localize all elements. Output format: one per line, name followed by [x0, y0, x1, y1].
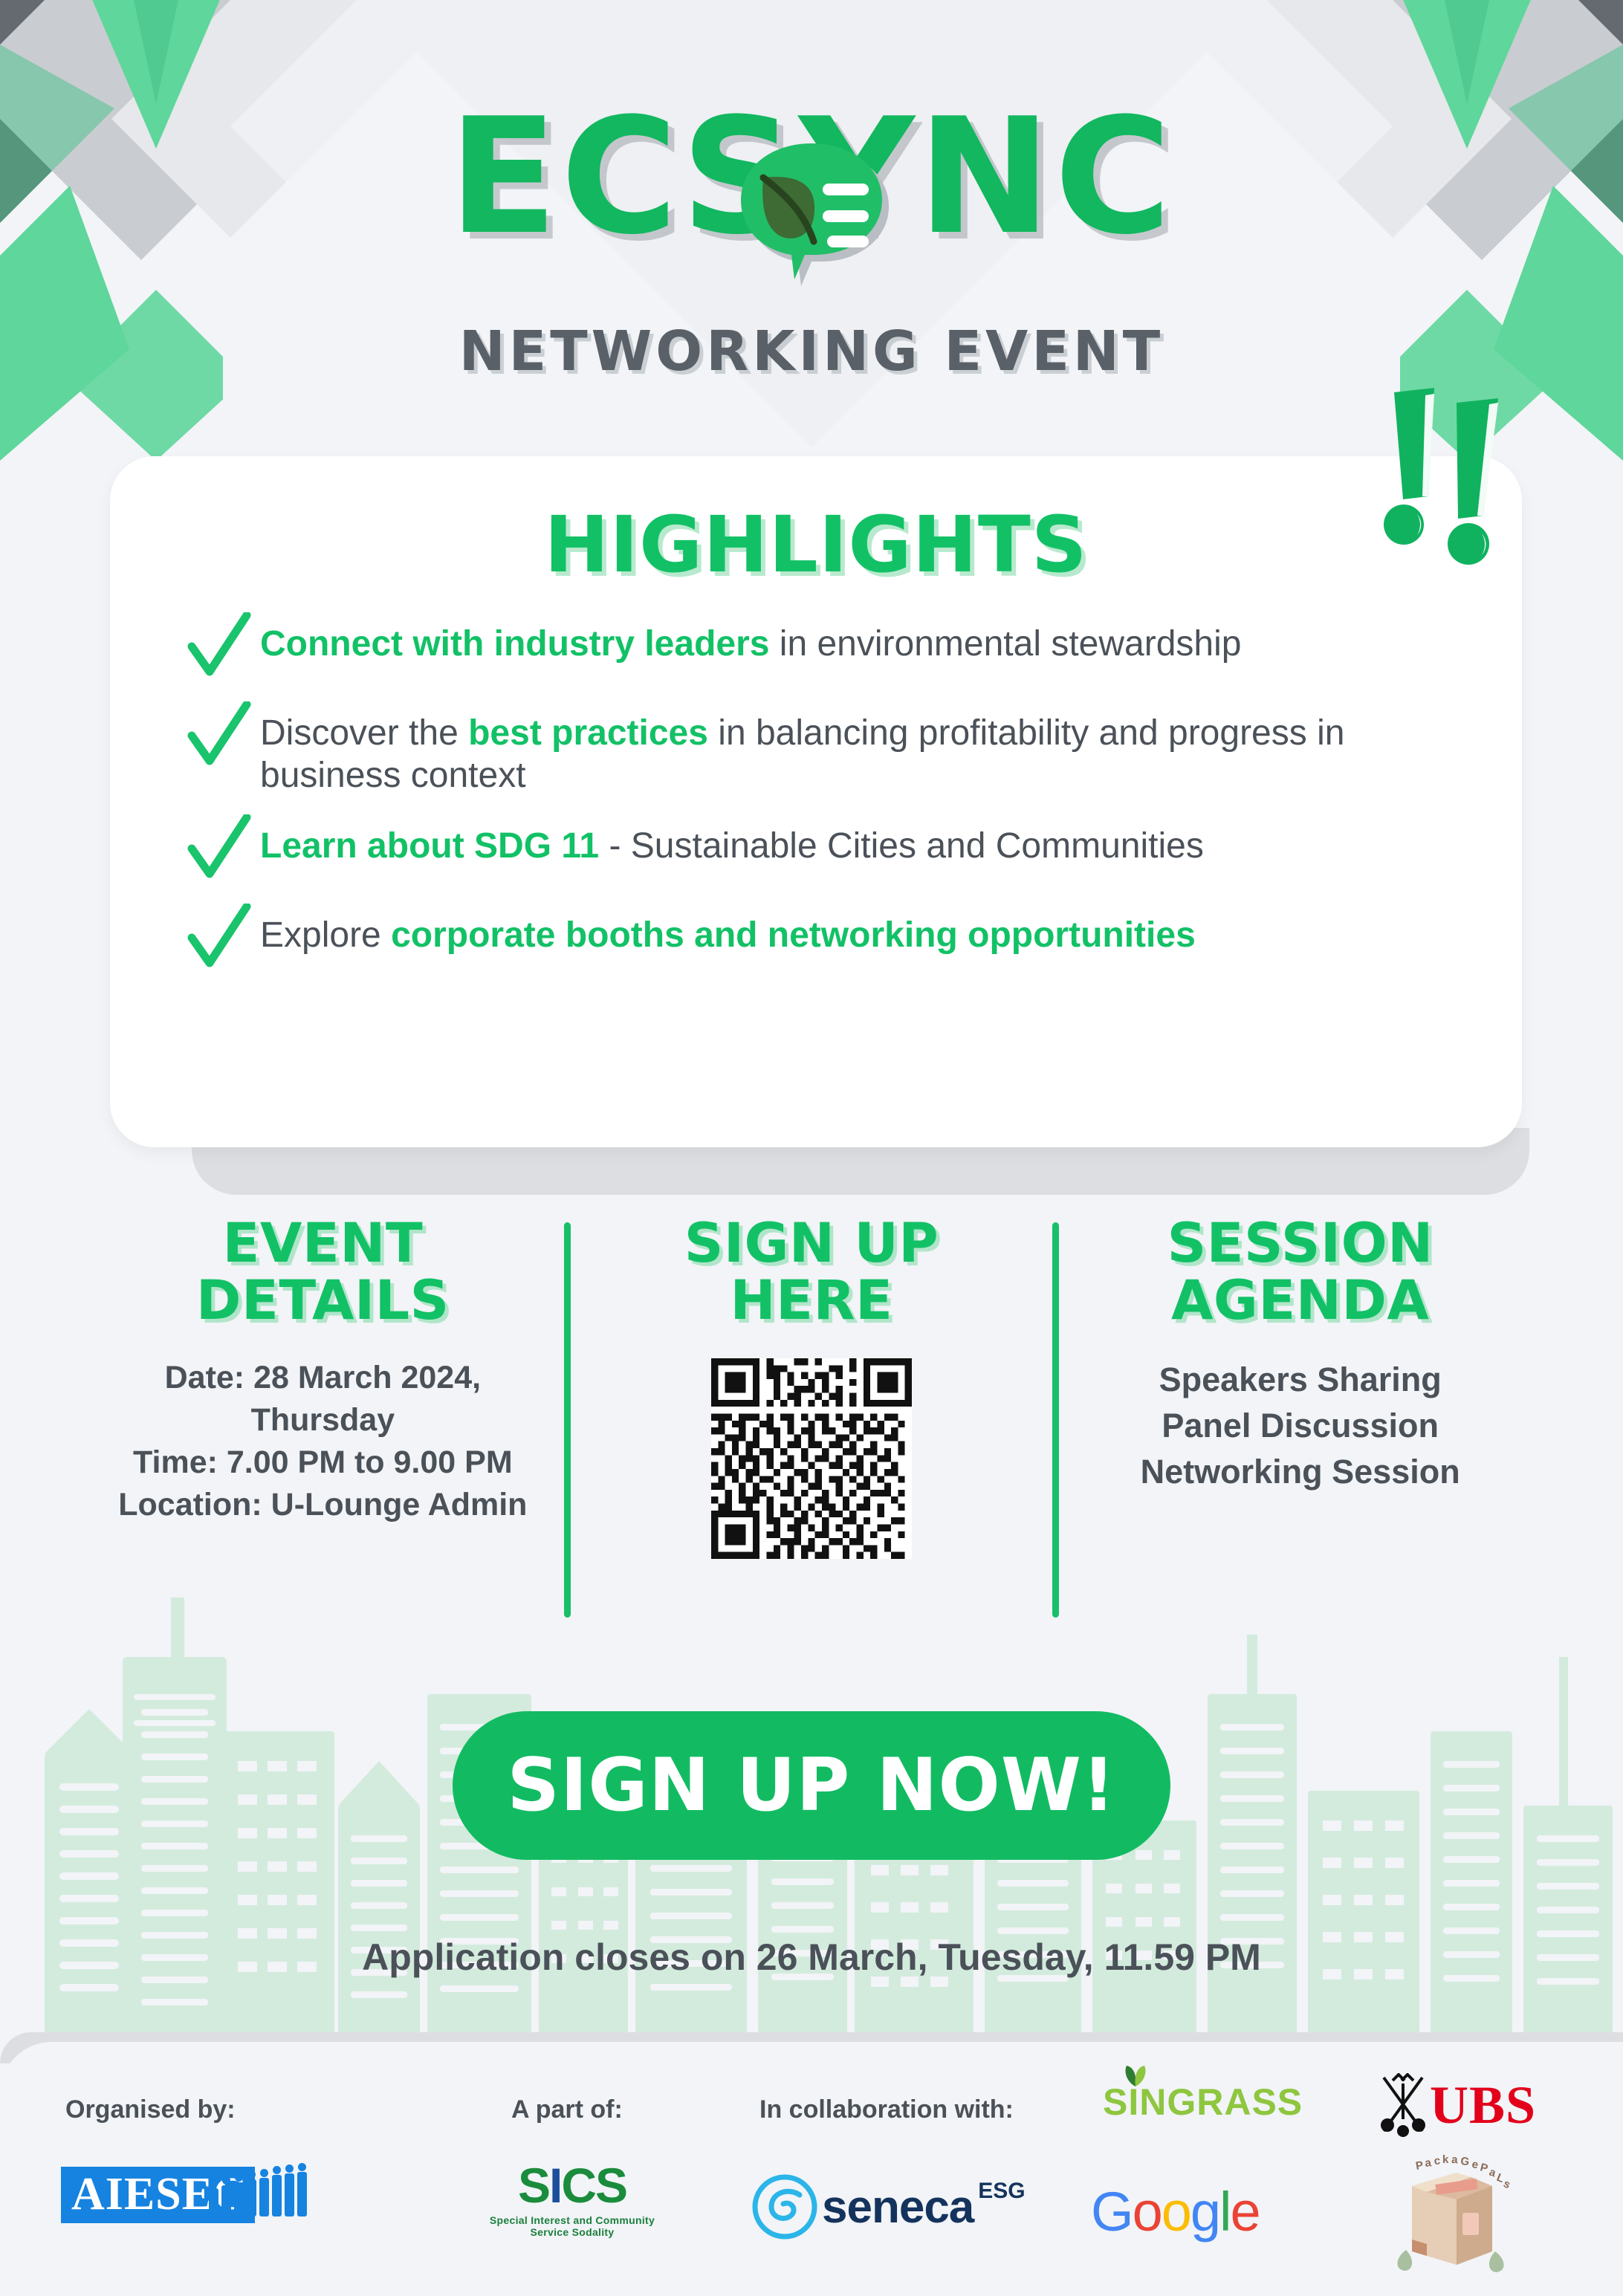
column-divider-1	[564, 1222, 571, 1618]
double-exclamation-icon	[1370, 379, 1534, 594]
google-logo: Google	[1091, 2180, 1260, 2243]
packagepals-logo: P a c k a G e P a L s	[1379, 2152, 1520, 2282]
event-time: Time: 7.00 PM to 9.00 PM	[82, 1442, 564, 1484]
session-agenda-body: Speakers Sharing Panel Discussion Networ…	[1059, 1357, 1541, 1495]
svg-text:P: P	[1479, 2161, 1489, 2175]
google-letter-g1: G	[1091, 2181, 1133, 2243]
highlights-title: HIGHLIGHTS	[110, 499, 1522, 590]
highlight-bold-2: best practices	[468, 713, 708, 753]
svg-text:e: e	[1471, 2158, 1479, 2171]
sign-up-here-title: SIGN UP HERE	[571, 1207, 1053, 1330]
seneca-esg-logo: seneca ESG	[751, 2173, 1026, 2241]
event-day: Thursday	[82, 1399, 564, 1442]
session-agenda-column: SESSION AGENDA Speakers Sharing Panel Di…	[1059, 1207, 1541, 1661]
aiesec-logo: AIESEC	[61, 2167, 310, 2223]
ubs-logo: UBS	[1376, 2073, 1536, 2137]
check-icon	[178, 612, 260, 684]
highlight-bold-1: Connect with industry leaders	[260, 624, 769, 664]
check-icon	[178, 814, 260, 886]
highlight-rest-3: - Sustainable Cities and Communities	[599, 826, 1204, 866]
session-agenda-title-line2: AGENDA	[1059, 1272, 1541, 1329]
organised-by-label: Organised by:	[65, 2095, 236, 2124]
sign-up-here-column: SIGN UP HERE	[571, 1207, 1053, 1661]
check-icon	[178, 904, 260, 975]
footer-panel: Organised by: A part of: In collaboratio…	[0, 2042, 1623, 2296]
event-details-column: EVENT DETAILS Date: 28 March 2024, Thurs…	[82, 1207, 564, 1661]
leaf-chat-bubble-icon	[732, 140, 891, 288]
google-letter-l: l	[1219, 2181, 1230, 2243]
svg-text:a: a	[1451, 2153, 1459, 2166]
a-part-of-label: A part of:	[511, 2095, 623, 2124]
sign-up-now-label: SIGN UP NOW!	[507, 1743, 1115, 1828]
session-agenda-title-line1: SESSION	[1059, 1215, 1541, 1272]
event-details-title-line1: EVENT	[82, 1215, 564, 1272]
sics-wordmark: SICS	[483, 2161, 661, 2210]
svg-text:a: a	[1425, 2156, 1433, 2170]
agenda-item-2: Panel Discussion	[1059, 1403, 1541, 1449]
highlight-rest-1: in environmental stewardship	[769, 624, 1241, 664]
highlight-bold-3: Learn about SDG 11	[260, 826, 599, 866]
svg-text:c: c	[1434, 2155, 1440, 2167]
highlight-bold-4: corporate booths and networking opportun…	[391, 915, 1196, 955]
sign-up-title-line2: HERE	[571, 1272, 1053, 1329]
application-deadline: Application closes on 26 March, Tuesday,…	[0, 1936, 1623, 1979]
info-columns: EVENT DETAILS Date: 28 March 2024, Thurs…	[82, 1207, 1541, 1661]
ubs-keys-icon	[1376, 2073, 1430, 2137]
column-divider-2	[1052, 1222, 1059, 1618]
sign-up-now-button[interactable]: SIGN UP NOW!	[453, 1711, 1170, 1860]
aiesec-people-icon	[209, 2173, 310, 2216]
sign-up-title-line1: SIGN UP	[571, 1215, 1053, 1272]
event-details-body: Date: 28 March 2024, Thursday Time: 7.00…	[82, 1357, 564, 1527]
sics-letter-s: S	[518, 2158, 549, 2213]
google-letter-e: e	[1230, 2181, 1259, 2243]
brand-name-left: EC	[449, 97, 681, 256]
agenda-item-3: Networking Session	[1059, 1449, 1541, 1495]
seneca-spiral-icon	[751, 2173, 819, 2241]
google-letter-o1: o	[1133, 2181, 1162, 2243]
highlight-text-4: Explore corporate booths and networking …	[260, 908, 1196, 956]
qr-code-icon[interactable]	[711, 1358, 912, 1559]
list-item: Connect with industry leaders in environ…	[178, 617, 1454, 684]
highlight-lead-2: Discover the	[260, 713, 468, 753]
sics-logo: SICS Special Interest and Community Serv…	[483, 2161, 661, 2238]
highlights-card: HIGHLIGHTS Connect with industry leaders…	[110, 456, 1522, 1147]
highlight-text-1: Connect with industry leaders in environ…	[260, 617, 1241, 665]
sics-tagline: Special Interest and Community Service S…	[483, 2214, 661, 2238]
highlight-text-3: Learn about SDG 11 - Sustainable Cities …	[260, 819, 1204, 867]
svg-text:G: G	[1460, 2155, 1470, 2168]
check-icon	[178, 701, 260, 773]
poster-root: ECSYNC NETWORKING EVENT HIGHLIGHTS	[0, 0, 1623, 2296]
highlight-text-2: Discover the best practices in balancing…	[260, 706, 1454, 797]
event-location: Location: U-Lounge Admin	[82, 1484, 564, 1526]
seneca-wordmark: seneca	[822, 2181, 974, 2234]
event-details-title: EVENT DETAILS	[82, 1207, 564, 1330]
list-item: Discover the best practices in balancing…	[178, 706, 1454, 797]
list-item: Explore corporate booths and networking …	[178, 908, 1454, 975]
in-collaboration-with-label: In collaboration with:	[759, 2095, 1014, 2124]
session-agenda-title: SESSION AGENDA	[1059, 1207, 1541, 1330]
highlights-list: Connect with industry leaders in environ…	[178, 617, 1454, 975]
google-letter-o2: o	[1162, 2181, 1190, 2243]
google-letter-g2: g	[1190, 2181, 1219, 2243]
agenda-item-1: Speakers Sharing	[1059, 1357, 1541, 1403]
ubs-wordmark: UBS	[1430, 2078, 1536, 2132]
event-details-title-line2: DETAILS	[82, 1272, 564, 1329]
event-date: Date: 28 March 2024,	[82, 1357, 564, 1399]
sics-letter-cs: CS	[561, 2158, 626, 2213]
svg-text:k: k	[1442, 2153, 1449, 2166]
svg-text:P: P	[1415, 2159, 1425, 2172]
sics-letter-i: I	[549, 2158, 561, 2213]
brand-subtitle: NETWORKING EVENT	[0, 320, 1623, 383]
list-item: Learn about SDG 11 - Sustainable Cities …	[178, 819, 1454, 886]
highlight-lead-4: Explore	[260, 915, 391, 955]
singrass-logo: SINGRASS	[1103, 2081, 1303, 2124]
packagepals-box-icon: P a c k a G e P a L s	[1379, 2152, 1520, 2278]
singrass-wordmark: SINGRASS	[1103, 2081, 1303, 2124]
seneca-esg-suffix: ESG	[978, 2179, 1025, 2204]
